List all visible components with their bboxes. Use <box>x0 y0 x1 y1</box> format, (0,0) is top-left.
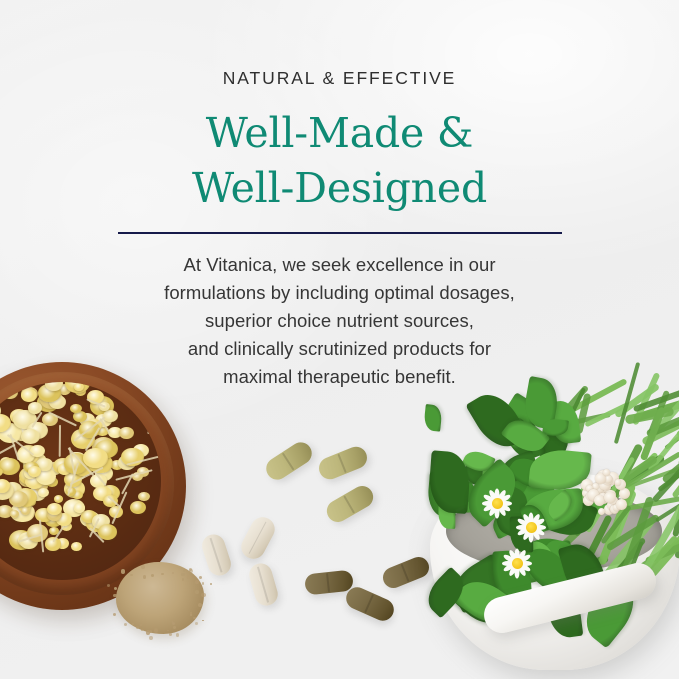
daisy-petal <box>529 530 534 542</box>
capsule-brown-1 <box>304 570 354 596</box>
powder-speck <box>149 630 152 633</box>
powder-speck <box>176 633 180 637</box>
chamomile-flower <box>64 480 86 498</box>
chamomile-flower <box>18 532 38 548</box>
rosemary-needle <box>606 513 661 551</box>
herbal-powder-pile <box>108 556 212 642</box>
daisy-petal <box>518 553 531 563</box>
chamomile-flower <box>24 462 38 474</box>
chamomile-flower <box>64 472 83 488</box>
umbel-flower <box>576 468 630 520</box>
chamomile-flower <box>21 507 31 515</box>
rosemary-needle <box>550 554 610 584</box>
chamomile-flower <box>132 472 143 481</box>
chamomile-flower <box>90 396 114 416</box>
chamomile-flower <box>45 514 62 528</box>
powder-speck <box>182 578 184 580</box>
umbel-floret <box>615 479 626 490</box>
umbel-floret <box>604 475 612 483</box>
powder-speck <box>202 582 204 584</box>
daisy-petal <box>516 525 528 530</box>
umbel-floret <box>595 473 606 484</box>
rosemary-needle <box>664 390 679 450</box>
daisy-flower-2 <box>516 512 546 542</box>
rosemary-needle <box>657 443 679 492</box>
chamomile-flower <box>0 458 20 475</box>
daisy-flower-3 <box>502 548 532 578</box>
rosemary-needle <box>665 520 679 555</box>
mint-leaf <box>544 490 577 522</box>
divider-container <box>0 215 679 234</box>
mint-leaf <box>438 503 456 529</box>
mint-leaf <box>492 549 533 608</box>
mortar-cavity <box>446 490 662 572</box>
powder-speck <box>154 628 158 632</box>
banner-text-block: NATURAL & EFFECTIVE Well-Made & Well-Des… <box>0 0 679 392</box>
horizontal-divider <box>118 232 562 234</box>
umbel-floret <box>582 488 593 499</box>
tablet-cream-3 <box>247 561 281 609</box>
body-line-3: superior choice nutrient sources, <box>0 307 679 335</box>
umbel-floret <box>606 490 616 500</box>
chamomile-flower <box>103 495 118 507</box>
rosemary-needle <box>582 515 613 567</box>
daisy-petal <box>532 526 545 536</box>
body-line-5: maximal therapeutic benefit. <box>0 363 679 391</box>
umbel-floret <box>586 491 596 501</box>
chamomile-stem <box>111 492 127 525</box>
powder-speck <box>199 576 202 579</box>
rosemary-needle <box>630 462 679 488</box>
mint-leaf <box>427 472 459 518</box>
chamomile-flower <box>0 482 6 497</box>
mint-leaf <box>461 446 496 476</box>
powder-speck <box>210 583 212 585</box>
chamomile-stem <box>147 395 157 433</box>
mint-leaf <box>420 567 471 619</box>
chamomile-flower <box>56 538 69 549</box>
rosemary-needle <box>597 557 630 590</box>
chamomile-flower <box>70 452 80 460</box>
chamomile-flower <box>0 423 22 443</box>
chamomile-flower <box>26 530 35 538</box>
powder-speck <box>189 569 193 573</box>
powder-speck <box>172 572 174 574</box>
chamomile-stem <box>121 474 133 495</box>
powder-speck <box>121 569 126 574</box>
rosemary-needle <box>560 491 620 549</box>
chamomile-flower <box>26 498 36 506</box>
daisy-petal <box>503 553 516 563</box>
chamomile-flower <box>25 474 44 489</box>
mint-leaf <box>446 480 479 510</box>
umbel-floret <box>610 505 619 514</box>
chamomile-flower <box>74 471 86 481</box>
bowl-cavity <box>0 382 161 580</box>
mint-leaf <box>450 573 511 633</box>
rosemary-needle <box>611 490 638 543</box>
mint-leaf <box>509 516 533 552</box>
chamomile-flower <box>80 511 100 527</box>
powder-speck <box>195 622 198 625</box>
umbel-floret <box>615 479 621 485</box>
chamomile-flower <box>137 467 149 477</box>
daisy-flower-1 <box>482 488 512 518</box>
chamomile-flower <box>46 477 58 487</box>
chamomile-flower <box>0 401 1 420</box>
chamomile-flower <box>0 481 14 500</box>
powder-speck <box>141 629 143 631</box>
mint-leaf <box>545 587 583 640</box>
mint-leaf <box>424 404 444 432</box>
chamomile-stem <box>87 398 106 407</box>
bowl-outer-rim <box>0 362 186 610</box>
tablet-cream-2 <box>237 513 279 563</box>
chamomile-flower <box>90 474 107 488</box>
powder-speck <box>167 630 169 632</box>
chamomile-flower <box>10 409 28 424</box>
rosemary-needle <box>661 435 679 483</box>
rosemary-needle <box>648 385 679 440</box>
chamomile-flower <box>20 534 38 549</box>
mint-leaf <box>427 451 471 515</box>
mint-leaf <box>500 407 546 463</box>
powder-speck <box>202 620 204 622</box>
chamomile-stem <box>116 469 153 481</box>
headline-line-1: Well-Made & <box>0 106 679 161</box>
umbel-floret <box>592 482 604 494</box>
powder-speck <box>193 617 196 620</box>
chamomile-flower <box>0 457 12 467</box>
chamomile-flower <box>27 432 39 442</box>
chamomile-flower <box>24 468 37 479</box>
mint-leaf <box>558 539 610 605</box>
chamomile-flower <box>111 460 123 470</box>
chamomile-flower <box>86 419 102 432</box>
rosemary-needle <box>592 516 656 593</box>
chamomile-stem <box>0 443 16 460</box>
powder-speck <box>201 593 205 597</box>
chamomile-flower <box>133 444 149 457</box>
chamomile-flower <box>23 452 47 472</box>
chamomile-flower <box>45 537 61 550</box>
mint-leaf <box>519 529 589 589</box>
mint-leaf <box>488 484 535 538</box>
umbel-floret <box>599 480 610 491</box>
chamomile-flower <box>86 516 106 532</box>
chamomile-flower <box>66 487 76 495</box>
chamomile-flower <box>87 390 105 404</box>
umbel-floret <box>596 489 605 498</box>
chamomile-flower <box>92 437 115 456</box>
rosemary-needle <box>598 454 666 503</box>
brand-banner: NATURAL & EFFECTIVE Well-Made & Well-Des… <box>0 0 679 679</box>
mint-leaf <box>496 449 539 485</box>
chamomile-stem <box>99 417 110 433</box>
chamomile-flower <box>14 488 37 507</box>
daisy-petal <box>507 564 517 577</box>
chamomile-stem <box>126 455 161 466</box>
chamomile-stem <box>89 518 100 537</box>
capsule-brown-2 <box>380 554 432 591</box>
powder-speck <box>149 636 153 640</box>
umbel-floret <box>599 480 612 493</box>
chamomile-flower <box>100 485 120 501</box>
chamomile-flower <box>96 426 109 437</box>
powder-speck <box>187 575 191 579</box>
chamomile-stem <box>69 447 76 475</box>
chamomile-flower <box>36 458 52 471</box>
umbel-floret <box>597 493 609 505</box>
daisy-petal <box>520 561 532 566</box>
powder-speck <box>141 565 145 569</box>
daisy-petal <box>534 525 546 530</box>
umbel-floret <box>583 496 590 503</box>
chamomile-stem <box>107 495 121 508</box>
rosemary-needle <box>586 452 659 523</box>
powder-speck <box>124 623 127 626</box>
mint-leaf <box>532 424 575 469</box>
daisy-petal <box>496 504 506 517</box>
chamomile-flower <box>95 414 111 427</box>
rosemary-needle <box>674 515 679 559</box>
powder-speck <box>195 590 199 594</box>
chamomile-flower <box>17 445 40 464</box>
rosemary-needle <box>619 455 659 486</box>
body-line-4: and clinically scrutinized products for <box>0 335 679 363</box>
chamomile-flower <box>83 448 108 468</box>
chamomile-flower <box>53 458 72 474</box>
chamomile-stem <box>53 526 65 543</box>
chamomile-flower <box>28 402 43 414</box>
chamomile-flower <box>93 486 112 502</box>
daisy-petal <box>498 493 511 503</box>
chamomile-flower <box>99 402 110 411</box>
chamomile-flower <box>35 508 53 522</box>
powder-speck <box>117 603 121 607</box>
mortar-and-pestle-image <box>430 430 679 679</box>
daisy-center <box>492 498 503 509</box>
body-copy: At Vitanica, we seek excellence in our f… <box>0 234 679 392</box>
chamomile-flower <box>0 509 1 519</box>
daisy-petal <box>500 501 512 506</box>
mint-leaf <box>521 488 584 532</box>
daisy-petal <box>495 488 500 500</box>
mint-leaf <box>444 554 511 615</box>
umbel-floret <box>588 489 599 500</box>
daisy-petal <box>507 549 517 562</box>
chamomile-flower <box>79 413 95 426</box>
mint-leaf <box>506 451 552 494</box>
chamomile-flower <box>72 429 92 445</box>
rosemary-needle <box>651 459 679 503</box>
chamomile-flower <box>95 466 113 481</box>
rosemary-needle <box>641 397 679 446</box>
chamomile-stem <box>67 447 94 476</box>
mint-leaf <box>521 539 577 583</box>
chamomile-stem <box>74 416 106 441</box>
capsule-olive-3 <box>323 482 377 526</box>
rosemary-needle <box>564 387 586 427</box>
chamomile-stem <box>49 411 78 426</box>
daisy-petal <box>517 526 530 536</box>
umbel-floret <box>605 490 614 499</box>
umbel-floret <box>586 485 592 491</box>
powder-speck <box>114 587 117 590</box>
powder-speck <box>198 603 202 607</box>
daisy-petal <box>521 528 531 541</box>
chamomile-flower <box>63 499 85 517</box>
chamomile-flower <box>81 510 97 523</box>
powder-speck <box>190 612 192 614</box>
rosemary-needle <box>648 390 670 436</box>
chamomile-flower <box>0 468 3 477</box>
chamomile-flower <box>68 452 85 466</box>
daisy-center <box>526 522 537 533</box>
mint-leaf <box>587 493 614 516</box>
rosemary-needle <box>610 537 646 581</box>
powder-speck <box>161 573 164 576</box>
chamomile-flower <box>20 467 38 482</box>
chamomile-flower <box>73 411 87 422</box>
chamomile-flower <box>56 513 71 526</box>
daisy-center <box>512 558 523 569</box>
daisy-petal <box>532 517 545 527</box>
chamomile-flower <box>18 450 35 464</box>
mint-leaf <box>496 480 531 505</box>
chamomile-flower <box>40 464 57 478</box>
chamomile-flower <box>88 454 112 474</box>
mint-leaf <box>548 399 581 445</box>
chamomile-flower <box>49 527 59 535</box>
chamomile-flower <box>17 448 35 463</box>
daisy-petal <box>482 501 494 506</box>
rosemary-needle <box>586 456 636 533</box>
rosemary-needle <box>585 402 631 428</box>
chamomile-flower <box>90 452 103 463</box>
chamomile-flower <box>130 501 146 514</box>
chamomile-flower <box>34 480 49 492</box>
chamomile-flower <box>55 462 68 473</box>
mint-leaf <box>501 413 551 460</box>
chamomile-stem <box>94 472 106 486</box>
daisy-petal <box>521 513 531 526</box>
umbel-floret <box>594 495 605 506</box>
chamomile-flower <box>121 448 143 466</box>
chamomile-stem <box>31 412 42 428</box>
daisy-petal <box>518 562 531 572</box>
chamomile-flower <box>18 501 31 512</box>
daisy-petal <box>498 502 511 512</box>
umbel-floret <box>597 470 610 483</box>
powder-speck <box>169 633 172 636</box>
chamomile-flower <box>73 460 93 477</box>
mint-leaf <box>510 418 530 446</box>
rosemary-needle <box>594 544 673 601</box>
chamomile-flower <box>23 460 39 473</box>
mint-leaf <box>480 462 503 494</box>
daisy-petal <box>487 504 497 517</box>
umbel-floret <box>607 499 620 512</box>
rosemary-needle <box>602 443 644 513</box>
bowl-inner-rim <box>0 372 174 595</box>
body-line-2: formulations by including optimal dosage… <box>0 279 679 307</box>
mint-leaf <box>525 537 558 574</box>
powder-speck <box>151 626 153 628</box>
rosemary-needle <box>646 400 679 438</box>
chamomile-stem <box>7 434 35 456</box>
mint-leaf <box>514 464 557 527</box>
daisy-petal <box>530 513 540 526</box>
daisy-petal <box>516 564 526 577</box>
mint-leaf <box>533 490 598 544</box>
chamomile-flower <box>10 510 20 518</box>
chamomile-flower <box>47 462 62 475</box>
rosemary-needle <box>639 406 666 461</box>
daisy-petal <box>517 517 530 527</box>
powder-speck <box>181 573 185 577</box>
chamomile-flower <box>126 459 135 466</box>
chamomile-flower <box>103 410 118 423</box>
powder-speck <box>154 629 158 633</box>
chamomile-bowl-image <box>0 362 186 610</box>
chamomile-flower <box>38 488 49 497</box>
rosemary-needle <box>600 504 632 544</box>
rosemary-needle <box>630 535 679 587</box>
chamomile-flower <box>0 414 11 432</box>
chamomile-flower <box>72 491 82 499</box>
mint-leaf <box>519 501 549 537</box>
tablet-cream-1 <box>199 531 234 578</box>
chamomile-flower <box>64 453 89 473</box>
rosemary-needle <box>623 494 679 512</box>
mint-leaf <box>574 575 645 649</box>
umbel-floret <box>581 479 593 491</box>
umbel-floret <box>598 508 605 515</box>
chamomile-flower <box>97 527 106 535</box>
chamomile-stem <box>67 462 79 495</box>
chamomile-flower <box>49 395 66 409</box>
capsule-olive-1 <box>262 438 316 484</box>
daisy-petal <box>502 561 514 566</box>
rosemary-needle <box>647 417 679 473</box>
umbel-floret <box>619 488 630 499</box>
chamomile-stem <box>70 467 104 485</box>
rosemary-needle <box>598 483 637 566</box>
chamomile-stem <box>90 528 105 543</box>
powder-speck <box>130 574 133 577</box>
umbel-floret <box>604 492 616 504</box>
mint-leaf <box>452 572 517 633</box>
umbel-floret <box>592 483 599 490</box>
chamomile-flower <box>9 530 33 550</box>
pestle <box>480 559 659 637</box>
rosemary-needle <box>646 515 679 579</box>
chamomile-flower <box>61 522 72 531</box>
umbel-floret <box>602 475 613 486</box>
chamomile-flower <box>12 424 32 441</box>
chamomile-flower <box>36 468 57 485</box>
umbel-floret <box>616 499 627 510</box>
mint-leaf <box>488 501 532 539</box>
daisy-petal <box>515 566 520 578</box>
chamomile-flower <box>0 479 10 493</box>
mint-leaf <box>491 392 543 450</box>
powder-speck <box>146 630 150 634</box>
daisy-petal <box>495 506 500 518</box>
umbel-floret <box>599 491 611 503</box>
powder-speck <box>113 594 116 597</box>
